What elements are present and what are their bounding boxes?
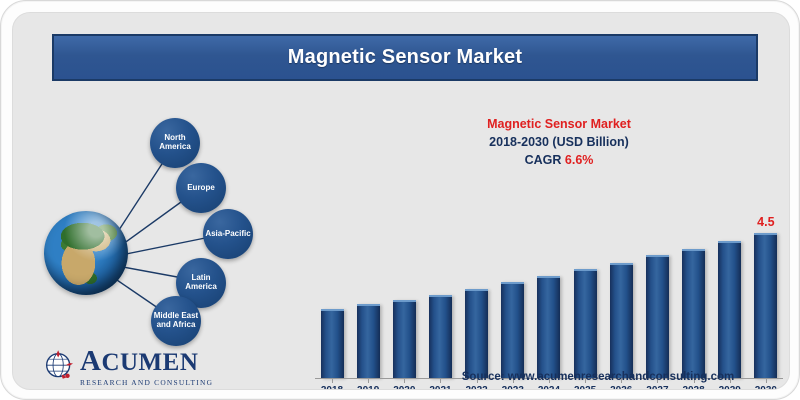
bar-column: 4.5 [749, 233, 783, 378]
axis-tick [404, 379, 405, 383]
bar [646, 255, 669, 378]
bar [501, 282, 524, 378]
x-axis-tick-label: 2027 [640, 385, 674, 390]
bar [610, 263, 633, 378]
x-axis-tick-label: 2022 [460, 385, 494, 390]
bar-column [677, 249, 711, 378]
axis-tick [766, 379, 767, 383]
earth-globe-icon [44, 211, 128, 295]
bar [574, 269, 597, 378]
x-axis-tick-label: 2030 [749, 385, 783, 390]
bar [321, 309, 344, 378]
region-bubble-europe[interactable]: Europe [176, 163, 226, 213]
x-axis-tick-label: 2028 [677, 385, 711, 390]
logo-tagline: RESEARCH AND CONSULTING [80, 378, 213, 387]
region-bubble-asia-pacific[interactable]: Asia-Pacific [203, 209, 253, 259]
chart-title: Magnetic Sensor Market [429, 116, 689, 134]
bar [718, 241, 741, 378]
bar-column [604, 263, 638, 378]
x-axis-tick-label: 2026 [604, 385, 638, 390]
region-label: North America [150, 134, 200, 152]
brand-logo[interactable]: ACUMEN RESEARCH AND CONSULTING [40, 343, 240, 390]
bar [682, 249, 705, 378]
infographic-frame: Magnetic Sensor Market North America Eur… [0, 0, 800, 400]
globe-compass-icon [42, 349, 76, 383]
logo-name-rest: CUMEN [101, 349, 198, 376]
bar [537, 276, 560, 378]
bar-column [496, 282, 530, 378]
bar [393, 300, 416, 378]
bar-column [460, 289, 494, 378]
bar-value-label: 4.5 [757, 215, 774, 229]
x-axis-labels: 2018201920202021202220232024202520262027… [315, 385, 783, 390]
bar [754, 233, 777, 378]
region-label: Europe [187, 184, 215, 193]
bar-column [315, 309, 349, 378]
x-axis-tick-label: 2023 [496, 385, 530, 390]
bar-column [713, 241, 747, 378]
bar [465, 289, 488, 378]
bar [357, 304, 380, 378]
region-label: Middle East and Africa [151, 312, 201, 330]
header-banner: Magnetic Sensor Market [52, 34, 758, 81]
plot-area: 4.5 201820192020202120222023202420252026… [305, 159, 775, 319]
region-diagram: North America Europe Asia-Pacific Latin … [13, 81, 303, 351]
region-bubble-middle-east-and-africa[interactable]: Middle East and Africa [151, 296, 201, 346]
market-bar-chart: Magnetic Sensor Market 2018-2030 (USD Bi… [289, 99, 787, 349]
x-axis-tick-label: 2021 [423, 385, 457, 390]
bar-column [351, 304, 385, 378]
axis-tick [440, 379, 441, 383]
x-axis-tick-label: 2029 [713, 385, 747, 390]
infographic-canvas: Magnetic Sensor Market North America Eur… [12, 12, 790, 390]
bar-column [532, 276, 566, 378]
x-axis-tick-label: 2019 [351, 385, 385, 390]
x-axis-tick-label: 2018 [315, 385, 349, 390]
region-bubble-north-america[interactable]: North America [150, 118, 200, 168]
bar-column [568, 269, 602, 378]
source-url[interactable]: Source: www.acumenresearchandconsulting.… [443, 371, 753, 383]
logo-initial: A [80, 345, 101, 377]
logo-name: ACUMEN [80, 347, 213, 376]
chart-subtitle: 2018-2030 (USD Billion) [429, 134, 689, 152]
region-label: Asia-Pacific [205, 230, 250, 239]
bar-series: 4.5 [315, 219, 783, 378]
axis-tick [368, 379, 369, 383]
bar [429, 295, 452, 378]
logo-wordmark: ACUMEN RESEARCH AND CONSULTING [80, 347, 213, 387]
region-label: Latin America [176, 274, 226, 292]
page-title: Magnetic Sensor Market [288, 46, 522, 69]
bar-column [387, 300, 421, 378]
x-axis-tick-label: 2024 [532, 385, 566, 390]
bar-column [423, 295, 457, 378]
x-axis-tick-label: 2020 [387, 385, 421, 390]
bar-column [640, 255, 674, 378]
axis-tick [332, 379, 333, 383]
x-axis-tick-label: 2025 [568, 385, 602, 390]
